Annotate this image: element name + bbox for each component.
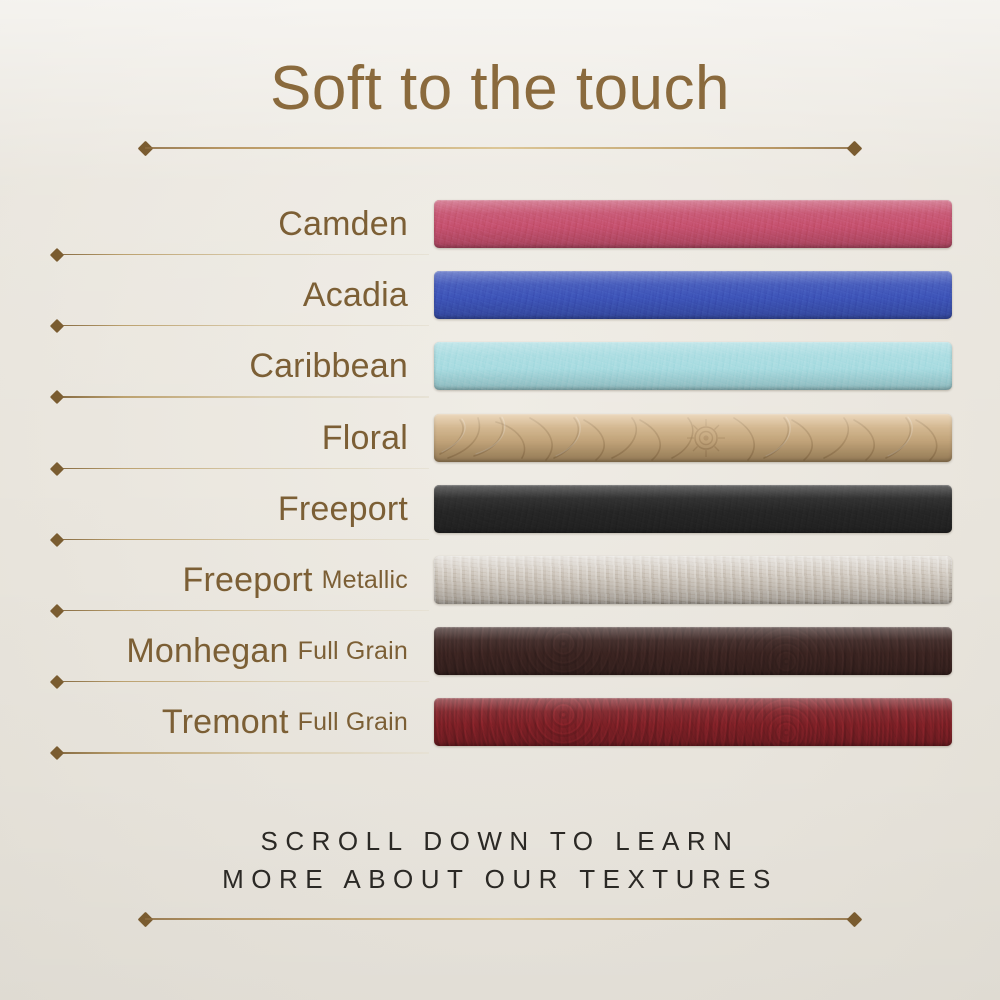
- swatch-chip[interactable]: [434, 414, 952, 462]
- swatch-label: Acadia: [40, 264, 408, 326]
- swatch-name: Camden: [278, 207, 408, 241]
- swatch-texture: [434, 485, 952, 533]
- row-divider: [57, 747, 429, 759]
- row-divider: [57, 605, 429, 617]
- divider-line: [57, 254, 429, 255]
- swatch-row[interactable]: TremontFull Grain: [0, 691, 1000, 753]
- swatch-qualifier: Metallic: [322, 568, 408, 593]
- swatch-texture: [434, 627, 952, 675]
- swatch-label: Caribbean: [40, 335, 408, 397]
- swatch-label: TremontFull Grain: [40, 691, 408, 753]
- divider-line: [57, 468, 429, 469]
- swatch-sheen: [434, 271, 952, 319]
- swatch-name: Acadia: [303, 278, 408, 312]
- divider-line: [57, 539, 429, 540]
- swatch-chip[interactable]: [434, 342, 952, 390]
- divider-line: [57, 681, 429, 682]
- swatch-label: Camden: [40, 193, 408, 255]
- swatch-sheen: [434, 200, 952, 248]
- swatch-qualifier: Full Grain: [298, 639, 408, 664]
- divider-line: [57, 752, 429, 753]
- swatch-texture: [434, 556, 952, 604]
- swatch-sheen: [434, 342, 952, 390]
- swatch-name: Monhegan: [126, 634, 288, 668]
- swatch-row[interactable]: MonheganFull Grain: [0, 620, 1000, 682]
- swatch-row[interactable]: Acadia: [0, 264, 1000, 326]
- swatch-row[interactable]: Camden: [0, 193, 1000, 255]
- swatch-texture: [434, 342, 952, 390]
- cta-line-2: MORE ABOUT OUR TEXTURES: [0, 860, 1000, 898]
- swatch-name: Floral: [322, 421, 408, 455]
- row-divider: [57, 320, 429, 332]
- swatch-texture: [434, 698, 952, 746]
- swatch-name: Tremont: [162, 705, 289, 739]
- divider-bottom: [145, 912, 855, 926]
- divider-line: [57, 396, 429, 397]
- row-divider: [57, 249, 429, 261]
- swatch-chip[interactable]: [434, 556, 952, 604]
- swatch-row[interactable]: Freeport: [0, 478, 1000, 540]
- row-divider: [57, 676, 429, 688]
- swatch-label: FreeportMetallic: [40, 549, 408, 611]
- swatch-name: Caribbean: [249, 349, 408, 383]
- swatch-chip[interactable]: [434, 698, 952, 746]
- divider-line: [57, 610, 429, 611]
- cta-line-1: SCROLL DOWN TO LEARN: [261, 826, 740, 856]
- swatch-row[interactable]: Floral: [0, 407, 1000, 469]
- swatch-texture: [434, 414, 952, 462]
- divider-line: [57, 325, 429, 326]
- swatch-label: Freeport: [40, 478, 408, 540]
- swatch-poster: Soft to the touch CamdenAcadiaCaribbeanF…: [0, 0, 1000, 1000]
- swatch-name: Freeport: [183, 563, 313, 597]
- swatch-sheen: [434, 556, 952, 604]
- swatch-sheen: [434, 414, 952, 462]
- swatch-sheen: [434, 698, 952, 746]
- row-divider: [57, 463, 429, 475]
- swatch-chip[interactable]: [434, 271, 952, 319]
- scroll-cta: SCROLL DOWN TO LEARN MORE ABOUT OUR TEXT…: [0, 822, 1000, 898]
- swatch-chip[interactable]: [434, 485, 952, 533]
- swatch-sheen: [434, 485, 952, 533]
- swatch-qualifier: Full Grain: [298, 710, 408, 735]
- swatch-chip[interactable]: [434, 200, 952, 248]
- swatch-sheen: [434, 627, 952, 675]
- swatch-label: MonheganFull Grain: [40, 620, 408, 682]
- swatch-row[interactable]: Caribbean: [0, 335, 1000, 397]
- row-divider: [57, 534, 429, 546]
- swatch-row[interactable]: FreeportMetallic: [0, 549, 1000, 611]
- swatch-texture: [434, 200, 952, 248]
- swatch-chip[interactable]: [434, 627, 952, 675]
- divider-line: [145, 918, 855, 920]
- swatch-name: Freeport: [278, 492, 408, 526]
- row-divider: [57, 391, 429, 403]
- swatch-texture: [434, 271, 952, 319]
- swatch-label: Floral: [40, 407, 408, 469]
